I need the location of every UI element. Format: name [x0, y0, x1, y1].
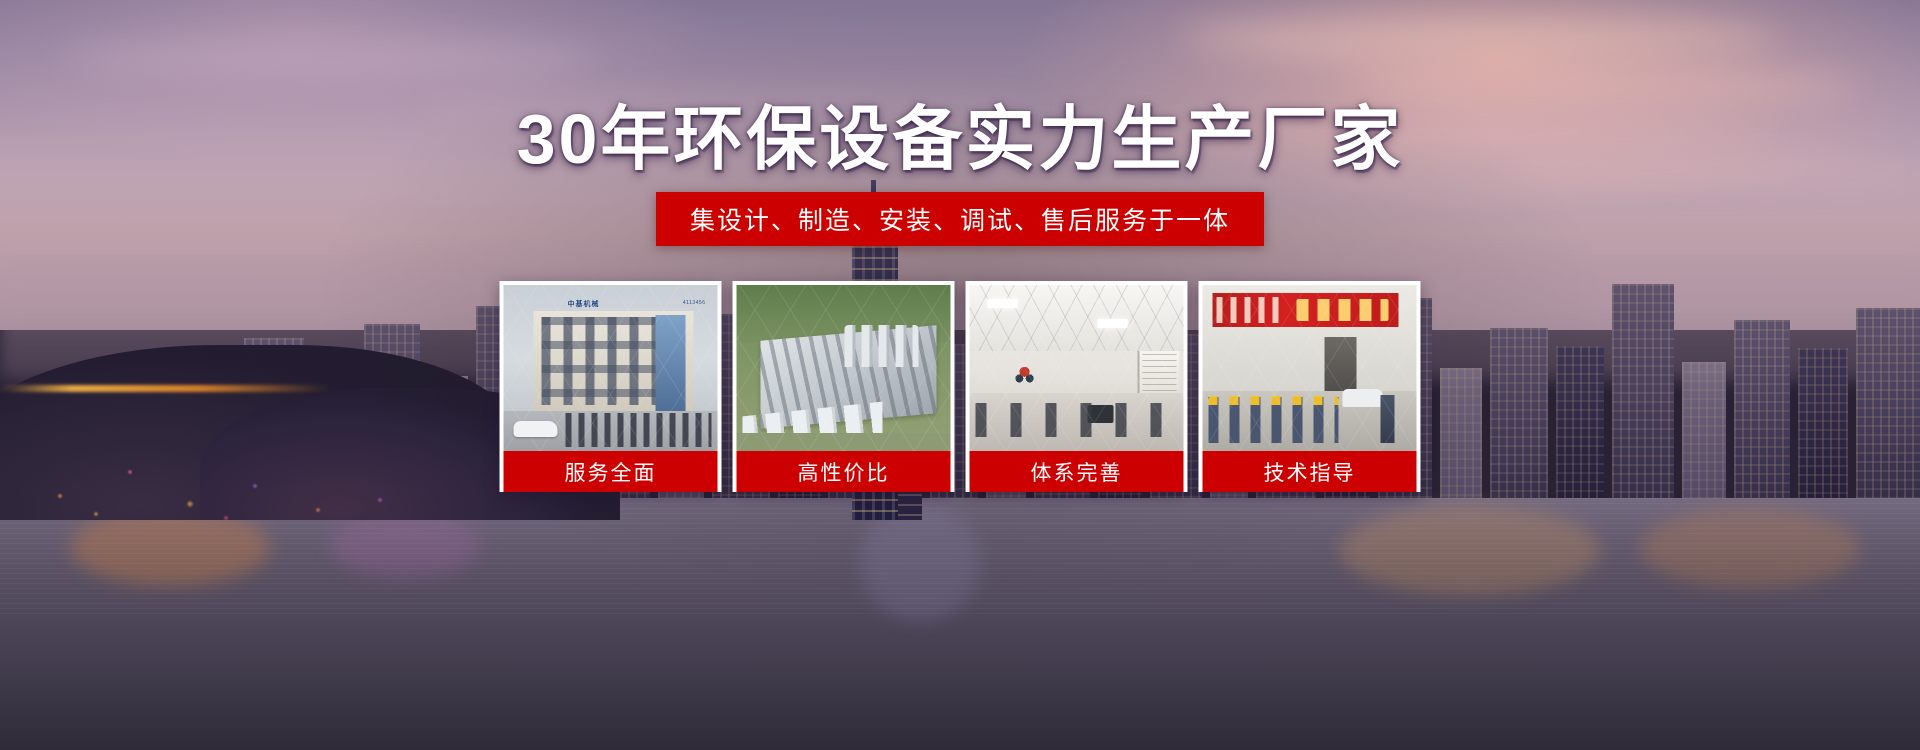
- feature-card-system[interactable]: 体系完善: [966, 281, 1188, 492]
- page-title: 30年环保设备实力生产厂家: [0, 104, 1920, 174]
- card-label: 技术指导: [1203, 451, 1417, 492]
- subtitle-badge: 集设计、制造、安装、调试、售后服务于一体: [656, 192, 1264, 246]
- card-label: 服务全面: [504, 451, 718, 492]
- feature-card-service[interactable]: 中基机械 4113456 服务全面: [500, 281, 722, 492]
- ceiling-light: [1098, 319, 1128, 328]
- banner-left-text: [1217, 297, 1279, 323]
- feature-card-guidance[interactable]: 技术指导: [1199, 281, 1421, 492]
- office-workers: [976, 403, 1176, 437]
- ceiling-light: [988, 299, 1018, 308]
- card-photo: 中基机械 4113456: [504, 285, 718, 451]
- feature-card-value[interactable]: 高性价比: [733, 281, 955, 492]
- hero-banner: 30年环保设备实力生产厂家 集设计、制造、安装、调试、售后服务于一体 中基机械 …: [0, 0, 1920, 750]
- silo-row: [845, 325, 919, 367]
- supervisor: [1381, 395, 1395, 443]
- company-signage: 中基机械: [568, 299, 600, 309]
- staff-lineup: [566, 413, 712, 447]
- card-photo: [1203, 285, 1417, 451]
- card-photo: [970, 285, 1184, 451]
- site-road: [737, 433, 951, 451]
- parked-car: [514, 421, 558, 437]
- banner-content: 30年环保设备实力生产厂家 集设计、制造、安装、调试、售后服务于一体 中基机械 …: [0, 0, 1920, 750]
- wall-decal: [1012, 363, 1038, 385]
- office-ceiling: [970, 285, 1184, 351]
- card-photo: [737, 285, 951, 451]
- glass-facade: [656, 315, 686, 411]
- card-label: 高性价比: [737, 451, 951, 492]
- white-vehicle: [1343, 389, 1383, 407]
- card-label: 体系完善: [970, 451, 1184, 492]
- hard-hats: [1209, 396, 1339, 405]
- feature-card-list: 中基机械 4113456 服务全面 高性价比: [500, 281, 1421, 492]
- phone-number: 4113456: [683, 300, 706, 306]
